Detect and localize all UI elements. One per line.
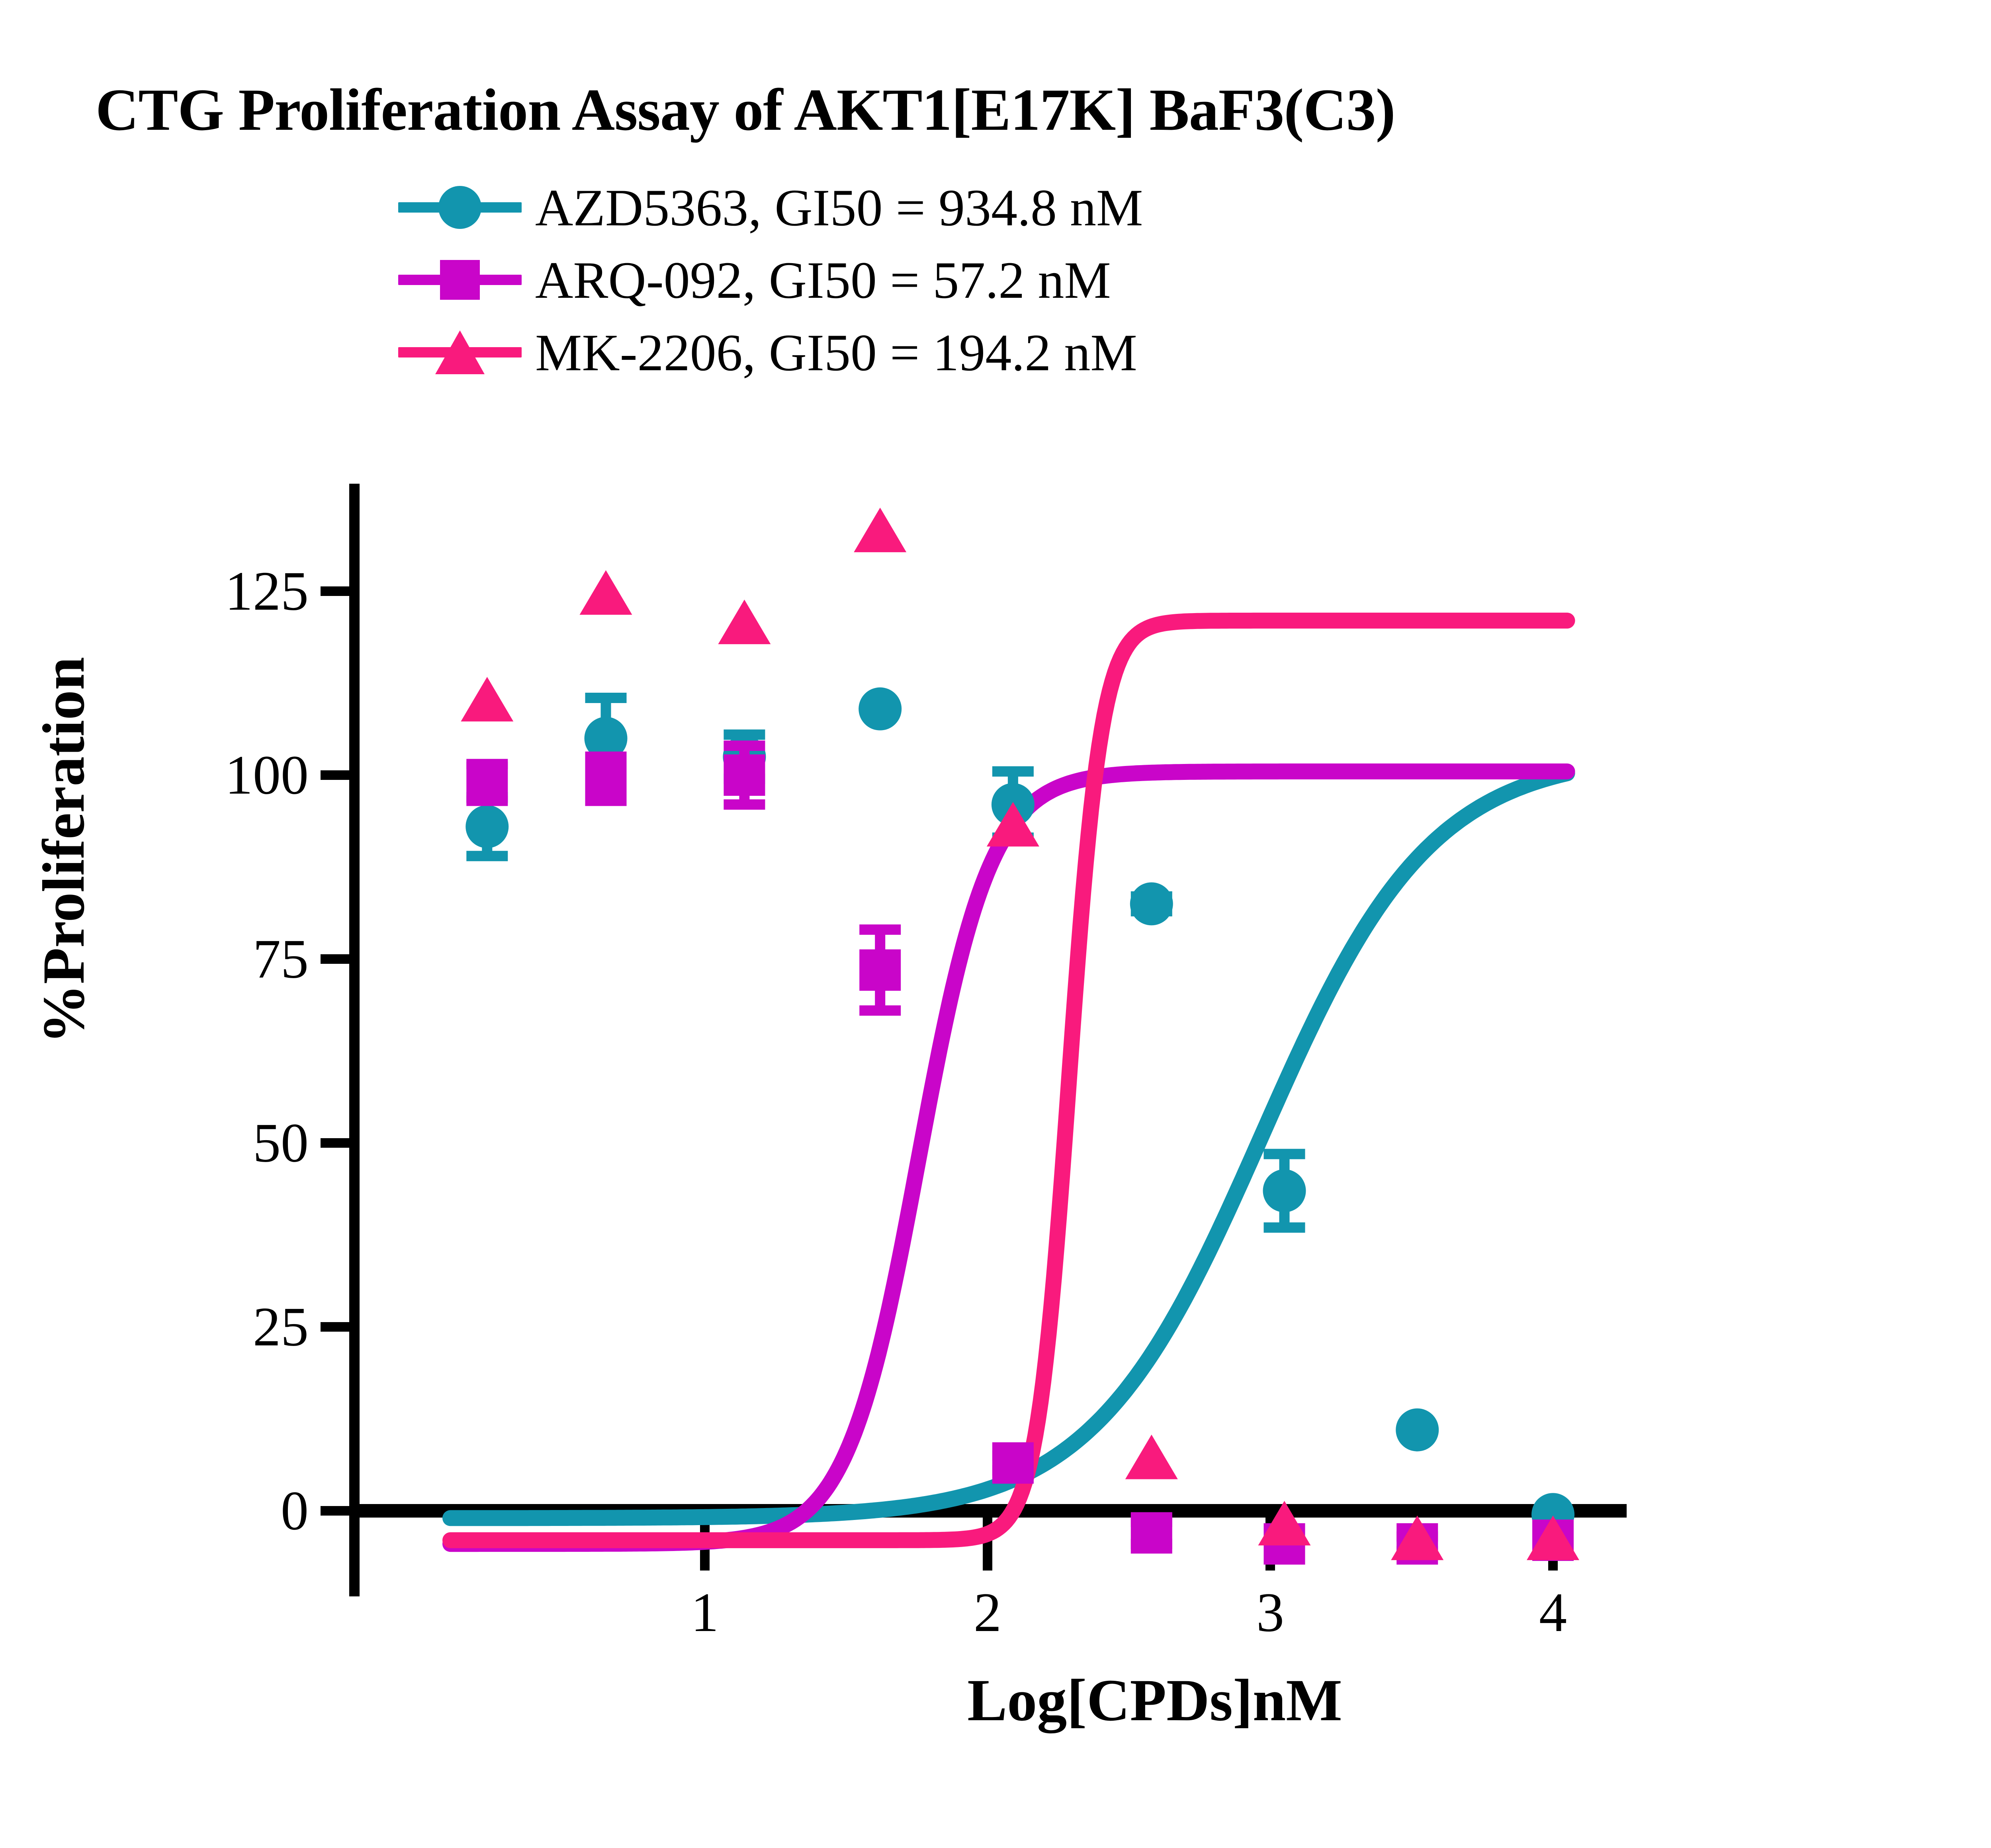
data-point-square [466,762,508,803]
data-point-circle [1130,882,1173,925]
data-point-square [724,754,765,796]
data-point-square [992,1442,1034,1484]
data-point-triangle [1125,1435,1178,1479]
data-point-circle [1263,1169,1306,1212]
data-point-square [585,758,627,799]
data-point-circle [1396,1408,1439,1451]
data-point-triangle [854,508,906,552]
plot-area [0,0,1991,1848]
data-point-triangle [580,570,632,615]
data-point-square [859,949,901,991]
data-point-triangle [718,600,771,644]
data-point-circle [859,688,902,731]
series-mk2206 [461,508,1579,1560]
fit-curve-azd5363 [450,773,1567,1518]
data-point-triangle [461,677,513,721]
data-point-circle [465,805,509,848]
chart-canvas: CTG Proliferation Assay of AKT1[E17K] Ba… [0,0,1991,1848]
data-point-square [1131,1512,1172,1553]
